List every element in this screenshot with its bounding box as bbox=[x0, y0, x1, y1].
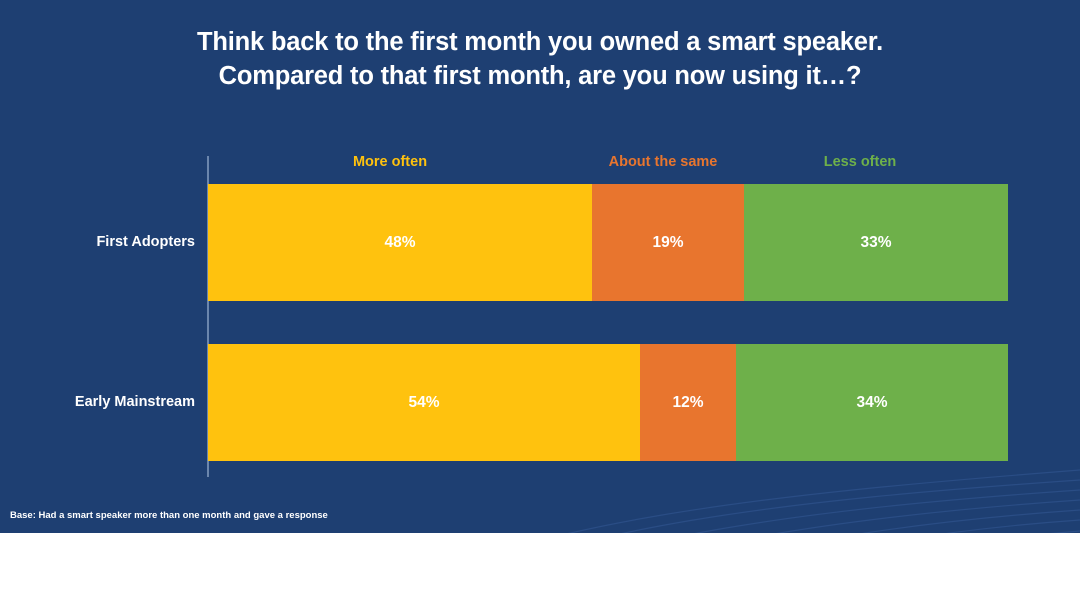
base-note: Base: Had a smart speaker more than one … bbox=[10, 510, 328, 521]
category-label-early-mainstream: Early Mainstream bbox=[25, 394, 195, 410]
bar-segment-about-the-same: 12% bbox=[640, 344, 736, 461]
legend-item-about-the-same: About the same bbox=[563, 154, 763, 176]
bar-segment-more-often: 48% bbox=[208, 184, 592, 301]
bar-segment-less-often: 34% bbox=[736, 344, 1008, 461]
slide-root: Think back to the first month you owned … bbox=[0, 0, 1080, 608]
category-label-first-adopters: First Adopters bbox=[25, 234, 195, 250]
footer-bar: THE smart audio REPORT n p r edison bbox=[0, 533, 1080, 608]
bar-row: 54% 12% 34% bbox=[208, 344, 1008, 461]
legend-item-more-often: More often bbox=[290, 154, 490, 176]
bar-row: 48% 19% 33% bbox=[208, 184, 1008, 301]
bar-segment-less-often: 33% bbox=[744, 184, 1008, 301]
bar-segment-more-often: 54% bbox=[208, 344, 640, 461]
legend-item-less-often: Less often bbox=[760, 154, 960, 176]
bar-segment-about-the-same: 19% bbox=[592, 184, 744, 301]
